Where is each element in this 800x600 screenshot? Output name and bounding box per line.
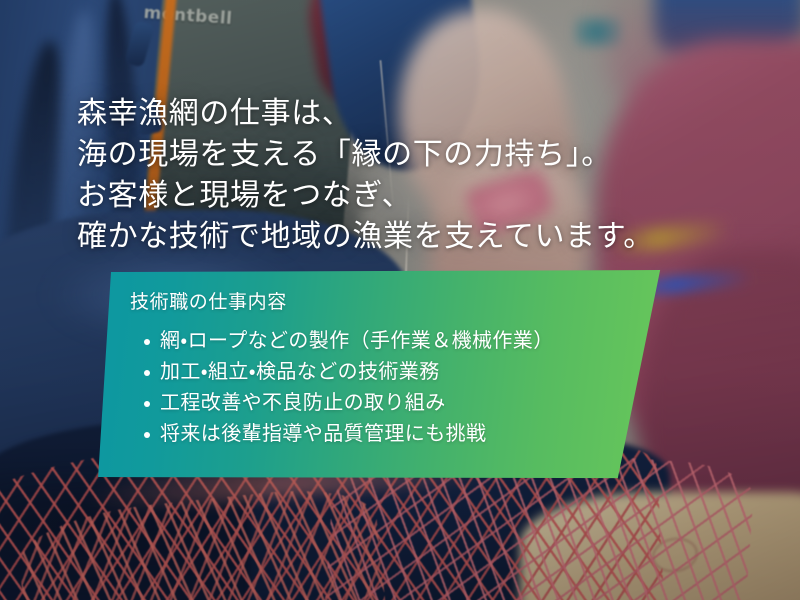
bullet-icon bbox=[144, 370, 150, 376]
headline-line-1: 森幸漁網の仕事は、 bbox=[77, 93, 654, 134]
list-item: 工程改善や不良防止の取り組み bbox=[160, 388, 670, 419]
list-item-label: 網・ロープなどの製作（手作業＆機械作業） bbox=[160, 330, 554, 352]
list-item: 将来は後輩指導や品質管理にも挑戦 bbox=[160, 419, 670, 450]
page-title: 森幸漁網の仕事は、 海の現場を支える「縁の下の力持ち」。 お客様と現場をつなぎ、… bbox=[77, 93, 654, 257]
list-item: 網・ロープなどの製作（手作業＆機械作業） bbox=[160, 326, 670, 357]
job-duties-heading: 技術職の仕事内容 bbox=[130, 290, 670, 316]
job-duties-panel-content: 技術職の仕事内容 網・ロープなどの製作（手作業＆機械作業） 加工・組立・検品など… bbox=[90, 268, 670, 480]
bullet-icon bbox=[144, 432, 150, 438]
list-item-label: 工程改善や不良防止の取り組み bbox=[160, 392, 446, 414]
list-item: 加工・組立・検品などの技術業務 bbox=[160, 357, 670, 388]
bullet-icon bbox=[144, 401, 150, 407]
headline-line-4: 確かな技術で地域の漁業を支えています。 bbox=[77, 216, 654, 257]
slide-canvas: montbell 森幸漁網の仕事は、 海の現場を支える「縁の bbox=[0, 0, 800, 600]
headline-line-2: 海の現場を支える「縁の下の力持ち」。 bbox=[77, 134, 654, 175]
job-duties-panel: 技術職の仕事内容 網・ロープなどの製作（手作業＆機械作業） 加工・組立・検品など… bbox=[90, 268, 670, 480]
headline-line-3: お客様と現場をつなぎ、 bbox=[77, 175, 654, 216]
job-duties-list: 網・ロープなどの製作（手作業＆機械作業） 加工・組立・検品などの技術業務 工程改… bbox=[130, 326, 670, 450]
list-item-label: 加工・組立・検品などの技術業務 bbox=[160, 361, 440, 383]
bullet-icon bbox=[144, 339, 150, 345]
list-item-label: 将来は後輩指導や品質管理にも挑戦 bbox=[160, 423, 486, 445]
